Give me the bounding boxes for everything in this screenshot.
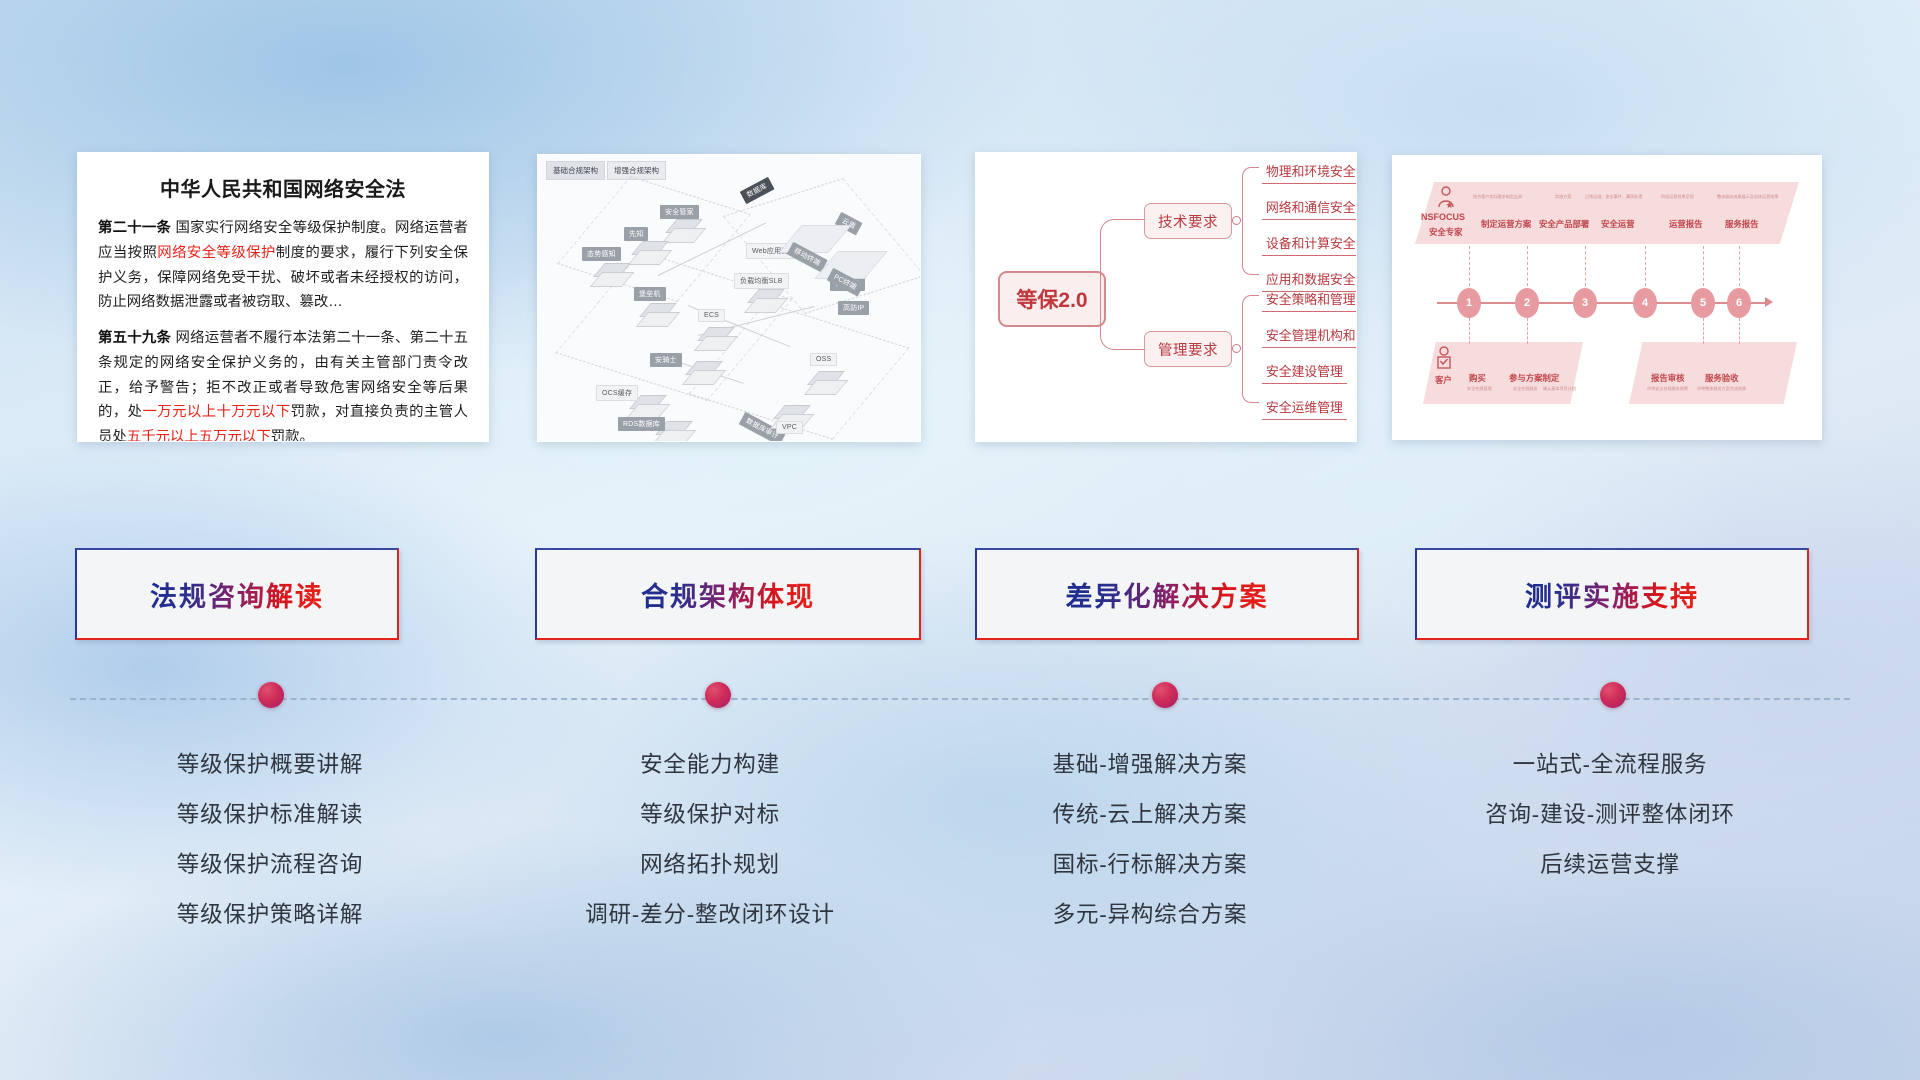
expert-person-icon [1437, 186, 1455, 208]
card-cybersecurity-law[interactable]: 中华人民共和国网络安全法 第二十一条 国家实行网络安全等级保护制度。网络运营者应… [77, 152, 489, 442]
step-title-5: 服务报告 [1725, 218, 1759, 230]
timeline-band-top [1415, 182, 1799, 244]
step-title-2: 安全产品部署 [1539, 218, 1589, 230]
node-icon-bastion-host [642, 303, 672, 325]
card-dengbao-mindmap[interactable]: 等保2.0 技术要求 管理要求 物理和环境安全 网络和通信安全 设备和计算安全 … [975, 152, 1357, 442]
node-label-anti-ddos-ip: 高防IP [838, 301, 869, 315]
list-item: 网络拓扑规划 [500, 840, 920, 890]
list-item: 咨询-建设-测评整体闭环 [1380, 790, 1840, 840]
mindmap-connector-management [1242, 295, 1259, 403]
node-icon-ecs [700, 327, 730, 349]
bottom-step-title-3: 报告审核 [1651, 372, 1685, 384]
heading-box-evaluation-support[interactable]: 测评实施支持 [1415, 548, 1809, 640]
bottom-step-sub-1: 安全合规服务 [1513, 386, 1538, 392]
bottom-step-title-4: 服务验收 [1705, 372, 1739, 384]
law-article-21: 第二十一条 国家实行网络安全等级保护制度。网络运营者应当按照网络安全等级保护制度… [98, 216, 468, 315]
node-icon-oss [810, 371, 840, 393]
nsfocus-brand-line2: 安全专家 [1429, 226, 1463, 238]
heading-box-regulation-consulting[interactable]: 法规咨询解读 [75, 548, 399, 640]
column-evaluation-support: 一站式-全流程服务 咨询-建设-测评整体闭环 后续运营支撑 [1380, 740, 1840, 890]
client-label: 客户 [1435, 374, 1452, 386]
law-article-59-label: 第五十九条 [98, 330, 171, 346]
timeline-node-2[interactable]: 2 [1515, 288, 1539, 318]
heading-label-1: 法规咨询解读 [150, 575, 324, 614]
node-label-security-steward: 安全管家 [660, 205, 699, 219]
bottom-step-sub-3: 评审安全合规服务效果 [1647, 386, 1688, 392]
list-item: 等级保护流程咨询 [60, 840, 480, 890]
bottom-step-sub-2: 确认基本项目计划 [1543, 386, 1576, 392]
node-icon-xianzhi [634, 241, 664, 263]
bottom-step-sub-4: 评审整体服务方案完成效果 [1697, 386, 1746, 392]
mindmap-dot-management [1232, 344, 1241, 353]
law-article-21-highlight: 网络安全等级保护 [157, 245, 276, 261]
tab-basic-architecture[interactable]: 基础合规架构 [546, 161, 605, 180]
heading-label-2: 合规架构体现 [641, 575, 815, 614]
node-label-situational-awareness: 态势感知 [582, 247, 621, 261]
reference-image-cards: 中华人民共和国网络安全法 第二十一条 国家实行网络安全等级保护制度。网络运营者应… [0, 152, 1920, 447]
list-item: 等级保护策略详解 [60, 890, 480, 940]
law-title: 中华人民共和国网络安全法 [98, 173, 468, 202]
connector-timeline [0, 690, 1920, 730]
bottom-step-title-2: 参与方案制定 [1509, 372, 1559, 384]
step-title-4: 运营报告 [1669, 218, 1703, 230]
list-item: 基础-增强解决方案 [940, 740, 1360, 790]
nsfocus-brand-line1: NSFOCUS [1421, 212, 1465, 222]
bottom-step-title-1: 购买 [1469, 372, 1486, 384]
timeline-tick-b2 [1527, 318, 1529, 344]
service-item-columns: 等级保护概要讲解 等级保护标准解读 等级保护流程咨询 等级保护策略详解 安全能力… [0, 740, 1920, 940]
step-sub-4: 阶段运营效果呈现 [1661, 194, 1694, 200]
mindmap-curve-technical [1100, 219, 1149, 300]
mindmap-branch-management: 管理要求 [1144, 331, 1232, 367]
node-label-ecs: ECS [698, 309, 725, 322]
mindmap-leaf-mgmt-2: 安全管理机构和人员 [1262, 325, 1357, 348]
timeline-node-6[interactable]: 6 [1727, 288, 1751, 318]
timeline-node-3[interactable]: 3 [1573, 288, 1597, 318]
timeline-tick-b3 [1703, 318, 1705, 344]
client-person-icon [1435, 346, 1453, 370]
list-item: 等级保护标准解读 [60, 790, 480, 840]
law-article-59-text-c: 罚款。 [271, 429, 314, 442]
mindmap-root-node: 等保2.0 [998, 271, 1106, 327]
mindmap-leaf-mgmt-1: 安全策略和管理制度 [1262, 289, 1357, 312]
mindmap-branch-technical: 技术要求 [1144, 203, 1232, 239]
step-sub-1: 结合客户实际需求制定出具 [1473, 194, 1522, 200]
node-label-bastion-host: 堡垒机 [634, 287, 666, 301]
list-item: 安全能力构建 [500, 740, 920, 790]
node-icon-security-steward [668, 219, 698, 241]
column-compliance-architecture: 安全能力构建 等级保护对标 网络拓扑规划 调研-差分-整改闭环设计 [500, 740, 920, 940]
heading-box-differentiated-solution[interactable]: 差异化解决方案 [975, 548, 1359, 640]
timeline-axis [1437, 302, 1767, 304]
mindmap-dot-technical [1232, 216, 1241, 225]
node-label-vpc: VPC [776, 421, 803, 434]
step-title-3: 安全运营 [1601, 218, 1635, 230]
list-item: 一站式-全流程服务 [1380, 740, 1840, 790]
timeline-marker-4[interactable] [1600, 682, 1626, 708]
timeline-arrow-icon [1765, 297, 1773, 307]
timeline-tick-1 [1469, 246, 1471, 286]
step-sub-3: 日常运维、安全事件、漏洞处理 [1585, 194, 1642, 200]
list-item: 国标-行标解决方案 [940, 840, 1360, 890]
card-cloud-architecture[interactable]: 基础合规架构 增强合规架构 数据库 安全管家 先知 [537, 154, 921, 442]
mindmap-connector-technical [1242, 167, 1259, 275]
column-regulation-consulting: 等级保护概要讲解 等级保护标准解读 等级保护流程咨询 等级保护策略详解 [60, 740, 480, 940]
list-item: 多元-异构综合方案 [940, 890, 1360, 940]
node-icon-situational-awareness [596, 263, 626, 285]
list-item: 等级保护概要讲解 [60, 740, 480, 790]
law-article-59-highlight-2: 五千元以上五万元以下 [127, 429, 271, 442]
node-label-ocs-cache: OCS缓存 [596, 385, 638, 401]
step-title-1: 制定运营方案 [1481, 218, 1531, 230]
heading-box-row: 法规咨询解读 合规架构体现 差异化解决方案 测评实施支持 [0, 548, 1920, 658]
mindmap-leaf-tech-1: 物理和环境安全 [1262, 161, 1357, 184]
timeline-node-5[interactable]: 5 [1691, 288, 1715, 318]
timeline-node-1[interactable]: 1 [1457, 288, 1481, 318]
node-label-xianzhi: 先知 [624, 227, 648, 241]
node-label-anqishi: 安骑士 [650, 353, 682, 367]
timeline-node-4[interactable]: 4 [1633, 288, 1657, 318]
node-icon-anqishi [688, 361, 718, 383]
timeline-marker-1[interactable] [258, 682, 284, 708]
timeline-tick-5 [1703, 246, 1705, 286]
heading-label-4: 测评实施支持 [1525, 575, 1699, 614]
mindmap-leaf-mgmt-3: 安全建设管理 [1262, 361, 1347, 384]
mindmap-curve-management [1100, 297, 1149, 350]
list-item: 传统-云上解决方案 [940, 790, 1360, 840]
heading-label-3: 差异化解决方案 [1066, 575, 1269, 614]
timeline-tick-b4 [1739, 318, 1741, 344]
list-item: 等级保护对标 [500, 790, 920, 840]
timeline-tick-2 [1527, 246, 1529, 286]
timeline-tick-6 [1739, 246, 1741, 286]
step-sub-2: 实施方案 [1555, 194, 1571, 200]
node-icon-slb [750, 289, 780, 311]
node-label-oss: OSS [810, 353, 837, 366]
timeline-marker-3[interactable] [1152, 682, 1178, 708]
architecture-tabs[interactable]: 基础合规架构 增强合规架构 [546, 161, 666, 180]
law-article-59-highlight-1: 一万元以上十万元以下 [142, 404, 290, 420]
mindmap-leaf-tech-2: 网络和通信安全 [1262, 197, 1357, 220]
card-nsfocus-timeline[interactable]: NSFOCUS 安全专家 结合客户实际需求制定出具 制定运营方案 实施方案 安全… [1392, 155, 1822, 440]
heading-box-compliance-architecture[interactable]: 合规架构体现 [535, 548, 921, 640]
step-sub-5: 整体服务成果展示及总体运营效果 [1717, 194, 1778, 200]
node-label-slb: 负载均衡SLB [734, 273, 789, 289]
timeline-tick-b1 [1469, 318, 1471, 344]
node-label-rds: RDS数据库 [618, 417, 665, 431]
law-article-21-label: 第二十一条 [98, 220, 171, 236]
timeline-tick-3 [1585, 246, 1587, 286]
list-item: 调研-差分-整改闭环设计 [500, 890, 920, 940]
mindmap-leaf-mgmt-4: 安全运维管理 [1262, 397, 1347, 420]
mindmap-leaf-tech-3: 设备和计算安全 [1262, 233, 1357, 256]
list-item: 后续运营支撑 [1380, 840, 1840, 890]
timeline-tick-4 [1645, 246, 1647, 286]
law-article-59: 第五十九条 网络运营者不履行本法第二十一条、第二十五条规定的网络安全保护义务的，… [98, 326, 468, 442]
client-sub: 安全合规管理 [1467, 386, 1492, 392]
timeline-marker-2[interactable] [705, 682, 731, 708]
timeline-dashed-line [70, 698, 1850, 700]
column-differentiated-solution: 基础-增强解决方案 传统-云上解决方案 国标-行标解决方案 多元-异构综合方案 [940, 740, 1360, 940]
